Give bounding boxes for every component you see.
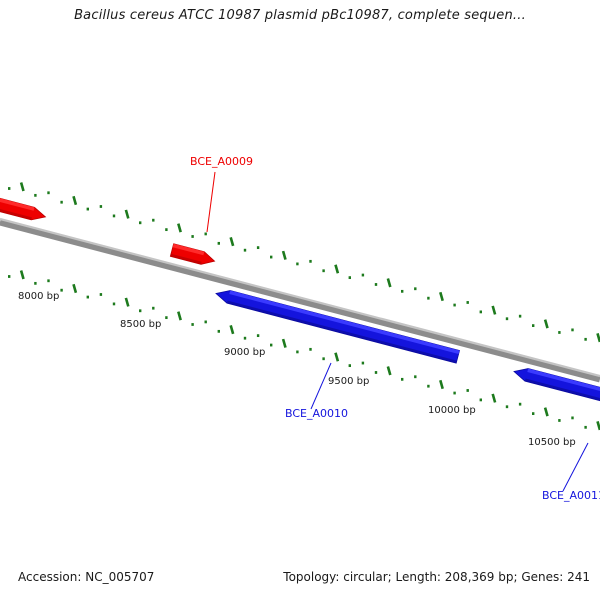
tick-mark	[362, 274, 364, 277]
ruler-tick-label: 10000 bp	[428, 405, 476, 416]
tick-mark	[205, 233, 207, 236]
tick-mark	[60, 289, 62, 292]
tick-mark	[453, 304, 455, 307]
tick-mark	[427, 297, 429, 300]
tick-mark	[336, 265, 338, 274]
tick-mark	[74, 284, 76, 293]
tick-mark	[8, 187, 10, 190]
tick-mark	[349, 364, 351, 367]
tick-mark	[375, 371, 377, 374]
tick-mark	[296, 351, 298, 354]
tick-mark	[126, 298, 128, 307]
ruler-tick-label: 8500 bp	[120, 319, 161, 330]
tick-mark	[283, 251, 285, 259]
tick-mark	[178, 224, 180, 233]
tick-mark	[178, 312, 180, 321]
tick-mark	[388, 367, 390, 376]
tick-mark	[113, 215, 115, 218]
tick-mark	[34, 194, 36, 197]
tick-mark	[74, 196, 76, 205]
tick-mark	[60, 201, 62, 204]
tick-mark	[191, 235, 193, 238]
tick-mark	[113, 303, 115, 306]
tick-mark	[283, 339, 285, 348]
ruler-tick-label: 8000 bp	[18, 291, 59, 302]
ruler-tick-label: 10500 bp	[528, 437, 576, 448]
tick-mark	[296, 263, 298, 266]
tick-mark	[126, 210, 128, 219]
tick-mark	[322, 357, 324, 360]
tick-mark	[467, 301, 469, 304]
genome-map-viewer[interactable]: Bacillus cereus ATCC 10987 plasmid pBc10…	[0, 0, 600, 600]
tick-mark	[532, 324, 534, 327]
tick-mark	[493, 394, 495, 403]
tick-mark	[205, 321, 207, 324]
gene-label-leader-bce_a0011	[563, 443, 588, 491]
tick-mark	[100, 293, 102, 296]
tick-mark	[584, 338, 586, 341]
gene-bce_a0008[interactable]	[0, 191, 47, 223]
tick-mark	[401, 290, 403, 293]
tick-mark	[231, 237, 233, 246]
ruler-tick-label: 9500 bp	[328, 376, 369, 387]
tick-mark	[440, 380, 442, 389]
tick-mark	[257, 246, 259, 249]
tick-mark	[244, 337, 246, 340]
tick-mark	[152, 219, 154, 222]
tick-mark	[47, 279, 49, 282]
tick-mark	[8, 275, 10, 278]
tick-mark	[545, 408, 547, 417]
gene-shape[interactable]	[170, 244, 216, 268]
tick-mark	[480, 310, 482, 313]
ruler-tick-label: 9000 bp	[224, 347, 265, 358]
tick-mark	[388, 279, 390, 288]
tick-mark	[21, 183, 23, 192]
tick-mark	[336, 353, 338, 362]
tick-mark	[558, 419, 560, 422]
tick-mark	[545, 320, 547, 329]
tick-mark	[139, 221, 141, 224]
tick-mark	[231, 325, 233, 334]
accession-label: Accession: NC_005707	[18, 570, 154, 584]
tick-mark	[467, 389, 469, 392]
tick-mark	[270, 256, 272, 259]
tick-mark	[309, 260, 311, 263]
tick-mark	[165, 316, 167, 319]
backbone-body	[0, 222, 600, 379]
tick-mark	[519, 315, 521, 318]
tick-mark	[362, 362, 364, 365]
gene-label-bce_a0010[interactable]: BCE_A0010	[285, 407, 348, 420]
gene-shape[interactable]	[0, 191, 47, 223]
tick-mark	[532, 412, 534, 415]
gene-label-bce_a0011[interactable]: BCE_A0011	[542, 489, 600, 502]
tick-mark	[244, 249, 246, 252]
tick-mark	[34, 282, 36, 285]
sequence-summary-label: Topology: circular; Length: 208,369 bp; …	[283, 570, 590, 584]
tick-mark	[349, 276, 351, 279]
tick-mark	[139, 309, 141, 312]
gene-arrow-highlight	[229, 291, 459, 354]
genome-backbone[interactable]	[0, 219, 600, 379]
gene-bce_a0009[interactable]	[170, 244, 216, 268]
tick-mark	[152, 307, 154, 310]
tick-mark	[414, 287, 416, 290]
tick-mark	[440, 292, 442, 301]
tick-mark	[584, 426, 586, 429]
tick-mark	[100, 205, 102, 208]
tick-mark	[270, 344, 272, 347]
tick-mark	[519, 403, 521, 406]
tick-mark	[218, 330, 220, 333]
status-bar: Accession: NC_005707 Topology: circular;…	[0, 570, 600, 594]
tick-mark	[571, 416, 573, 419]
tick-mark	[453, 392, 455, 395]
tick-mark	[493, 306, 495, 315]
tick-mark	[47, 191, 49, 194]
tick-mark	[375, 283, 377, 286]
tick-mark	[480, 398, 482, 401]
tick-mark	[558, 331, 560, 334]
tick-mark	[191, 323, 193, 326]
tick-mark	[21, 271, 23, 280]
tick-mark	[218, 242, 220, 245]
tick-mark	[427, 385, 429, 388]
tick-mark	[165, 228, 167, 231]
gene-label-leader-bce_a0009	[207, 172, 215, 232]
backbone-highlight	[0, 219, 600, 376]
gene-label-bce_a0009[interactable]: BCE_A0009	[190, 155, 253, 168]
tick-mark	[87, 208, 89, 211]
tick-mark	[506, 317, 508, 320]
tick-mark	[87, 296, 89, 299]
tick-mark	[571, 328, 573, 331]
tick-mark	[257, 334, 259, 337]
tick-mark-row-lower	[8, 271, 600, 430]
tick-mark	[414, 375, 416, 378]
tick-mark	[309, 348, 311, 351]
tick-mark	[401, 378, 403, 381]
tick-mark	[506, 405, 508, 408]
genome-map-canvas[interactable]: BCE_A0009BCE_A0010BCE_A00118000 bp8500 b…	[0, 0, 600, 600]
tick-mark	[322, 269, 324, 272]
